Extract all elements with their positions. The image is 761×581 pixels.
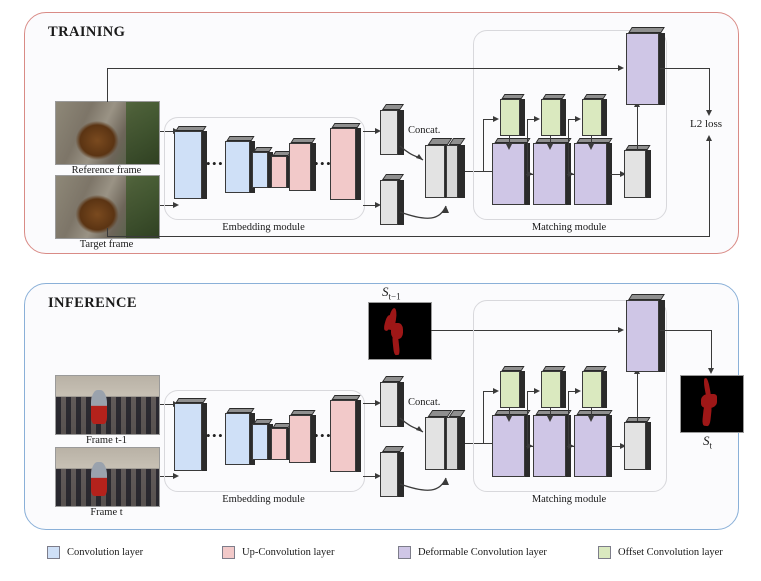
training-panel-title: TRAINING [48,24,125,41]
frame-t-minus-1-image [55,375,160,435]
offset-conv-layer-1 [500,99,520,136]
arrowhead-skip-to-final [618,65,624,71]
arrowhead-inf-deform1-to-deform2 [527,443,533,449]
inf-offset-conv-layer-2 [541,371,561,408]
embed-layer-upconv-2 [289,143,311,191]
inf-embed-layer-upconv-3 [330,400,356,472]
deformable-conv-layer-1 [492,143,525,205]
inf-deformable-conv-layer-3 [574,415,607,477]
inf-embed-layer-conv-2 [225,413,250,465]
embed-layer-upconv-1 [271,156,287,188]
legend-item-convolution: Convolution layer [47,546,143,559]
inf-embed-layer-upconv-2 [289,415,311,463]
legend-label-convolution: Convolution layer [67,547,143,558]
arrowhead-offset2-to-deform2 [547,144,553,150]
arrow-inf-deform1-up [527,391,528,447]
mask-input-image [368,302,432,360]
frame-t-image [55,447,160,507]
inference-matching-label: Matching module [473,494,665,505]
inference-final-deformable-layer [626,300,659,372]
legend-swatch-offset [598,546,611,559]
arrow-inf-gray-to-final [637,373,638,421]
inf-offset-conv-layer-3 [582,371,602,408]
inference-panel-title: INFERENCE [48,295,137,312]
frame-t-caption: Frame t [55,507,158,518]
skip-line-to-final [107,68,619,69]
embed-layer-upconv-3 [330,128,356,200]
concat-block-a [425,145,445,198]
legend-label-deformable: Deformable Convolution layer [418,547,547,558]
inf-embed-layer-conv-1 [174,403,202,471]
target-frame-caption: Target frame [55,239,158,250]
inf-deformable-conv-layer-1 [492,415,525,477]
embed-layer-conv-3 [252,152,268,188]
reference-frame-image [55,101,160,165]
inf-concat-block-b [446,417,458,470]
frame-t-minus-1-caption: Frame t-1 [55,435,158,446]
arrowhead-deform2-to-offset3 [575,116,581,122]
training-final-deformable-layer [626,33,659,105]
legend-label-offset: Offset Convolution layer [618,547,723,558]
inf-concat-block-a [425,417,445,470]
inference-concat-label: Concat. [408,397,440,408]
legend-swatch-convolution [47,546,60,559]
training-concat-label: Concat. [408,125,440,136]
mask-output-image [680,375,744,433]
embed-layer-conv-1 [174,131,202,199]
arrowhead-deform1-to-deform2 [527,171,533,177]
legend-item-offset: Offset Convolution layer [598,546,723,559]
skip-line-up-from-reference [107,68,108,102]
inf-matching-output-gray-layer [624,422,646,470]
arrow-gray-to-final [637,106,638,151]
offset-conv-layer-2 [541,99,561,136]
legend-swatch-upconvolution [222,546,235,559]
line-final-to-output [660,330,712,331]
arrowhead-to-output-mask [708,368,714,374]
deformable-conv-layer-3 [574,143,607,205]
loss-line-up-from-target [709,140,710,237]
line-output-down [711,330,712,370]
arrowhead-inf-deform1-to-offset2 [534,388,540,394]
l2-loss-label: L2 loss [690,118,722,130]
inf-embed-layer-upconv-1 [271,428,287,460]
arrowhead-inf-offset2-to-deform2 [547,416,553,422]
legend: Convolution layer Up-Convolution layer D… [0,538,761,572]
arrow-inf-deform2-up [568,391,569,447]
inf-embed-ellipsis-1: ••• [206,429,224,442]
arrowhead-offset3-to-deform3 [588,144,594,150]
legend-item-deformable: Deformable Convolution layer [398,546,547,559]
inf-embed-layer-conv-3 [252,424,268,460]
training-matching-label: Matching module [473,222,665,233]
mask-input-label: St−1 [382,284,401,302]
loss-line-from-final [660,68,710,69]
inf-offset-conv-layer-1 [500,371,520,408]
concat-block-b [446,145,458,198]
arrow-deform2-up [568,119,569,175]
deformable-conv-layer-2 [533,143,566,205]
inf-deformable-conv-layer-2 [533,415,566,477]
arrow-deform1-up [527,119,528,175]
arrowhead-inf-offset1-to-deform1 [506,416,512,422]
embed-ellipsis-1: ••• [206,157,224,170]
loss-line-bottom [107,236,710,237]
matching-output-gray-layer [624,150,646,198]
mask-output-label: St [703,433,712,451]
loss-line-down [709,68,710,112]
arrowhead-loss-top [706,110,712,116]
training-embedding-label: Embedding module [164,222,363,233]
offset-conv-layer-3 [582,99,602,136]
arrowhead-offset1-to-deform1 [506,144,512,150]
legend-swatch-deformable [398,546,411,559]
arrowhead-inf-deform2-to-offset3 [575,388,581,394]
legend-item-upconvolution: Up-Convolution layer [222,546,334,559]
legend-label-upconvolution: Up-Convolution layer [242,547,334,558]
loss-line-from-target-frame [107,228,108,237]
arrowhead-inf-offset3-to-deform3 [588,416,594,422]
embed-layer-conv-2 [225,141,250,193]
arrowhead-inf-deform2-to-deform3 [568,443,574,449]
arrowhead-deform1-to-offset2 [534,116,540,122]
arrowhead-loss-bottom [706,135,712,141]
inference-embedding-label: Embedding module [164,494,363,505]
arrowhead-deform2-to-deform3 [568,171,574,177]
